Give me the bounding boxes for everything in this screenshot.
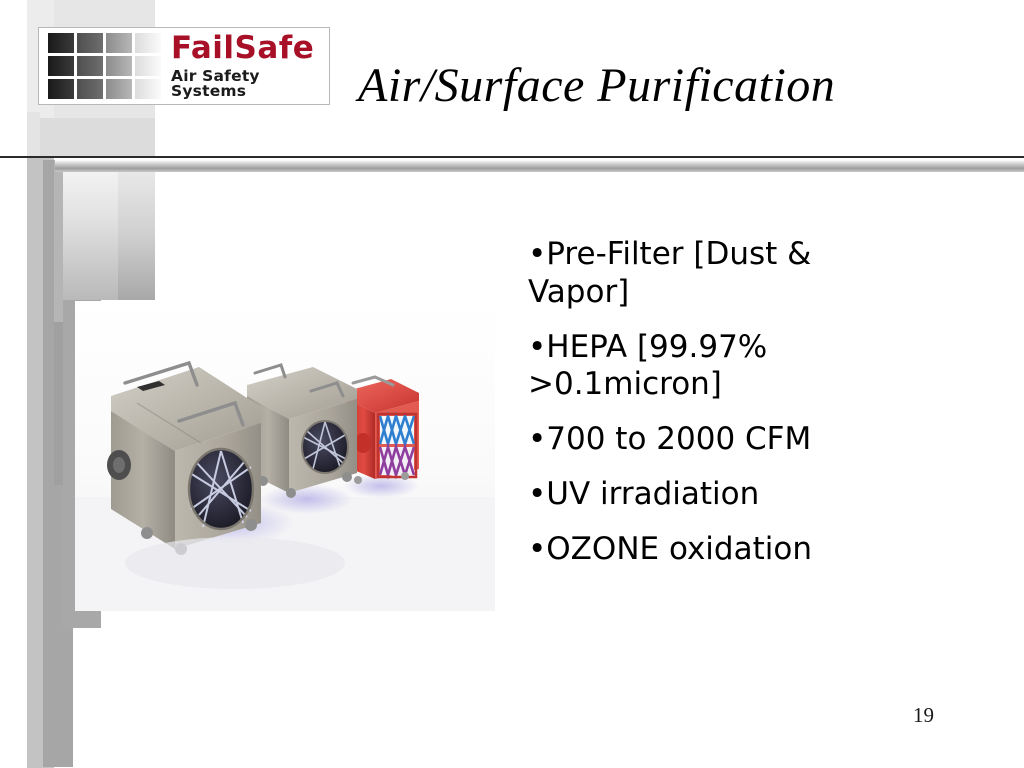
header-divider-line [0,156,1024,158]
list-item: •Pre-Filter [Dust & Vapor] [528,236,918,312]
logo-grid-cell [77,33,103,53]
sidebar-gradient-panel-right [118,172,155,300]
logo-grid-cell [77,79,103,99]
product-photo [75,301,495,611]
logo-grid-cell [106,33,132,53]
logo-tagline: Air Safety Systems [171,69,329,100]
logo-grid-cell [106,79,132,99]
logo-grid-cell [106,56,132,76]
logo-grid-cell [135,56,161,76]
logo-grid-cell [77,56,103,76]
logo-grid-icon [48,33,161,99]
header-gradient-bar [55,160,1024,172]
logo-wordmark: FailSafe [171,33,329,64]
red-purifier-unit [347,377,419,484]
list-item: •HEPA [99.97% >0.1micron] [528,329,918,405]
list-item: •UV irradiation [528,476,918,514]
list-item: •OZONE oxidation [528,531,918,569]
logo-underplate [40,118,155,158]
logo-grid-cell [135,79,161,99]
page-title: Air/Surface Purification [358,58,835,113]
logo-grid-cell [48,33,74,53]
bullet-list: •Pre-Filter [Dust & Vapor] •HEPA [99.97%… [528,236,918,569]
failsafe-logo: FailSafe Air Safety Systems [38,27,330,105]
logo-grid-cell [135,33,161,53]
logo-grid-cell [48,56,74,76]
logo-underplate-edge [27,112,40,158]
logo-text-block: FailSafe Air Safety Systems [171,33,329,100]
list-item: •700 to 2000 CFM [528,421,918,459]
product-photo-svg [75,301,495,611]
logo-grid-cell [48,79,74,99]
page-number: 19 [913,703,934,728]
